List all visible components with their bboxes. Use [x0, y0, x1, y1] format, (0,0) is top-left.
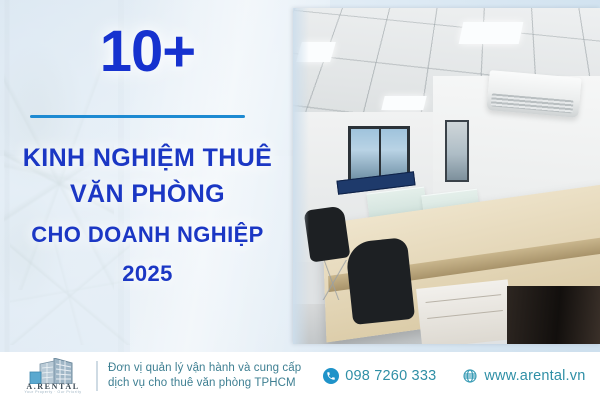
phone-number: 098 7260 333 [345, 368, 436, 384]
promo-banner: 10+ KINH NGHIỆM THUÊ VĂN PHÒNG CHO DOANH… [0, 0, 600, 400]
photo-ceiling-light-2 [381, 96, 426, 110]
headline-year: 2025 [0, 263, 295, 285]
photo-left-glass-edge [293, 8, 309, 344]
brand-logo[interactable]: A.RENTAL Your Property · Our Priority [16, 356, 90, 396]
photo-office-chair-2 [345, 237, 415, 325]
photo-air-conditioner [486, 70, 581, 118]
headline-block: 10+ KINH NGHIỆM THUÊ VĂN PHÒNG CHO DOANH… [0, 0, 295, 346]
photo-window-side [445, 120, 469, 182]
globe-icon [462, 368, 478, 384]
headline-line-1: KINH NGHIỆM THUÊ [0, 146, 295, 171]
headline-line-3: CHO DOANH NGHIỆP [0, 224, 295, 246]
tagline-line-1: Đơn vị quản lý vận hành và cung cấp [108, 361, 301, 376]
photo-drawer-cabinet [416, 279, 514, 344]
tagline-line-2: dịch vụ cho thuê văn phòng TPHCM [108, 376, 301, 391]
building-icon [28, 358, 74, 384]
website-url: www.arental.vn [484, 368, 585, 384]
headline-number: 10+ [0, 23, 295, 81]
photo-dark-foreground [507, 286, 600, 344]
footer-bar: A.RENTAL Your Property · Our Priority Đơ… [0, 352, 600, 400]
photo-ceiling-light-3 [459, 22, 524, 44]
footer-divider [96, 361, 98, 391]
office-interior-photo [293, 8, 600, 344]
logo-subtext: Your Property · Our Priority [16, 390, 90, 394]
headline-line-2: VĂN PHÒNG [0, 182, 295, 207]
headline-divider-rule [30, 115, 245, 118]
website-contact[interactable]: www.arental.vn [462, 368, 585, 384]
photo-office-chair-1 [304, 205, 351, 262]
phone-contact[interactable]: 098 7260 333 [323, 368, 436, 384]
footer-tagline: Đơn vị quản lý vận hành và cung cấp dịch… [108, 361, 301, 391]
phone-icon [323, 368, 339, 384]
